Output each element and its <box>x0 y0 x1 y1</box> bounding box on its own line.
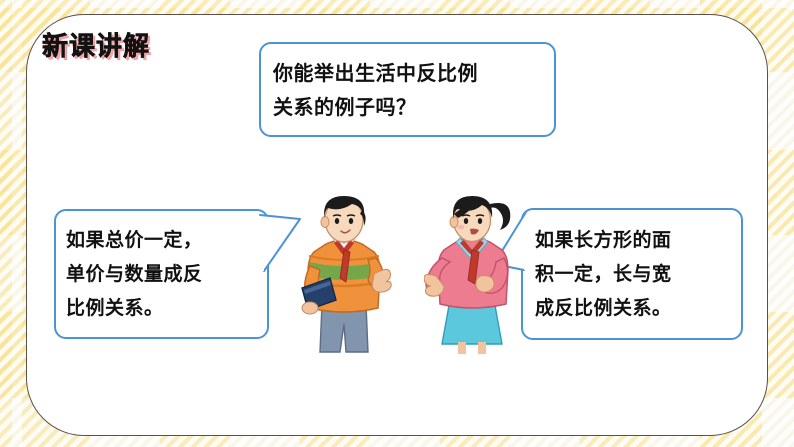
girl-answer-bubble: 如果长方形的面 积一定，长与宽 成反比例关系。 <box>521 208 743 340</box>
question-line-2: 关系的例子吗？ <box>273 95 417 119</box>
boy-answer-line-1: 如果总价一定， <box>66 229 203 251</box>
girl-answer-text: 如果长方形的面 积一定，长与宽 成反比例关系。 <box>535 223 733 325</box>
girl-answer-line-1: 如果长方形的面 <box>535 229 672 251</box>
question-line-1: 你能举出生活中反比例 <box>273 61 478 85</box>
slide-root: 新课讲解 你能举出生活中反比例 关系的例子吗？ 如果总价一定， 单价与数量成反 … <box>0 0 794 447</box>
girl-answer-line-2: 积一定，长与宽 <box>535 263 672 285</box>
teacher-question-bubble: 你能举出生活中反比例 关系的例子吗？ <box>259 42 556 137</box>
girl-answer-line-3: 成反比例关系。 <box>535 297 672 319</box>
teacher-question-text: 你能举出生活中反比例 关系的例子吗？ <box>273 56 542 124</box>
page-title: 新课讲解 <box>42 26 150 63</box>
boy-answer-line-2: 单价与数量成反 <box>66 263 203 285</box>
boy-answer-line-3: 比例关系。 <box>66 297 164 319</box>
girl-illustration <box>424 196 520 354</box>
boy-illustration <box>296 196 392 354</box>
boy-answer-text: 如果总价一定， 单价与数量成反 比例关系。 <box>66 223 259 325</box>
boy-answer-bubble: 如果总价一定， 单价与数量成反 比例关系。 <box>54 209 269 339</box>
